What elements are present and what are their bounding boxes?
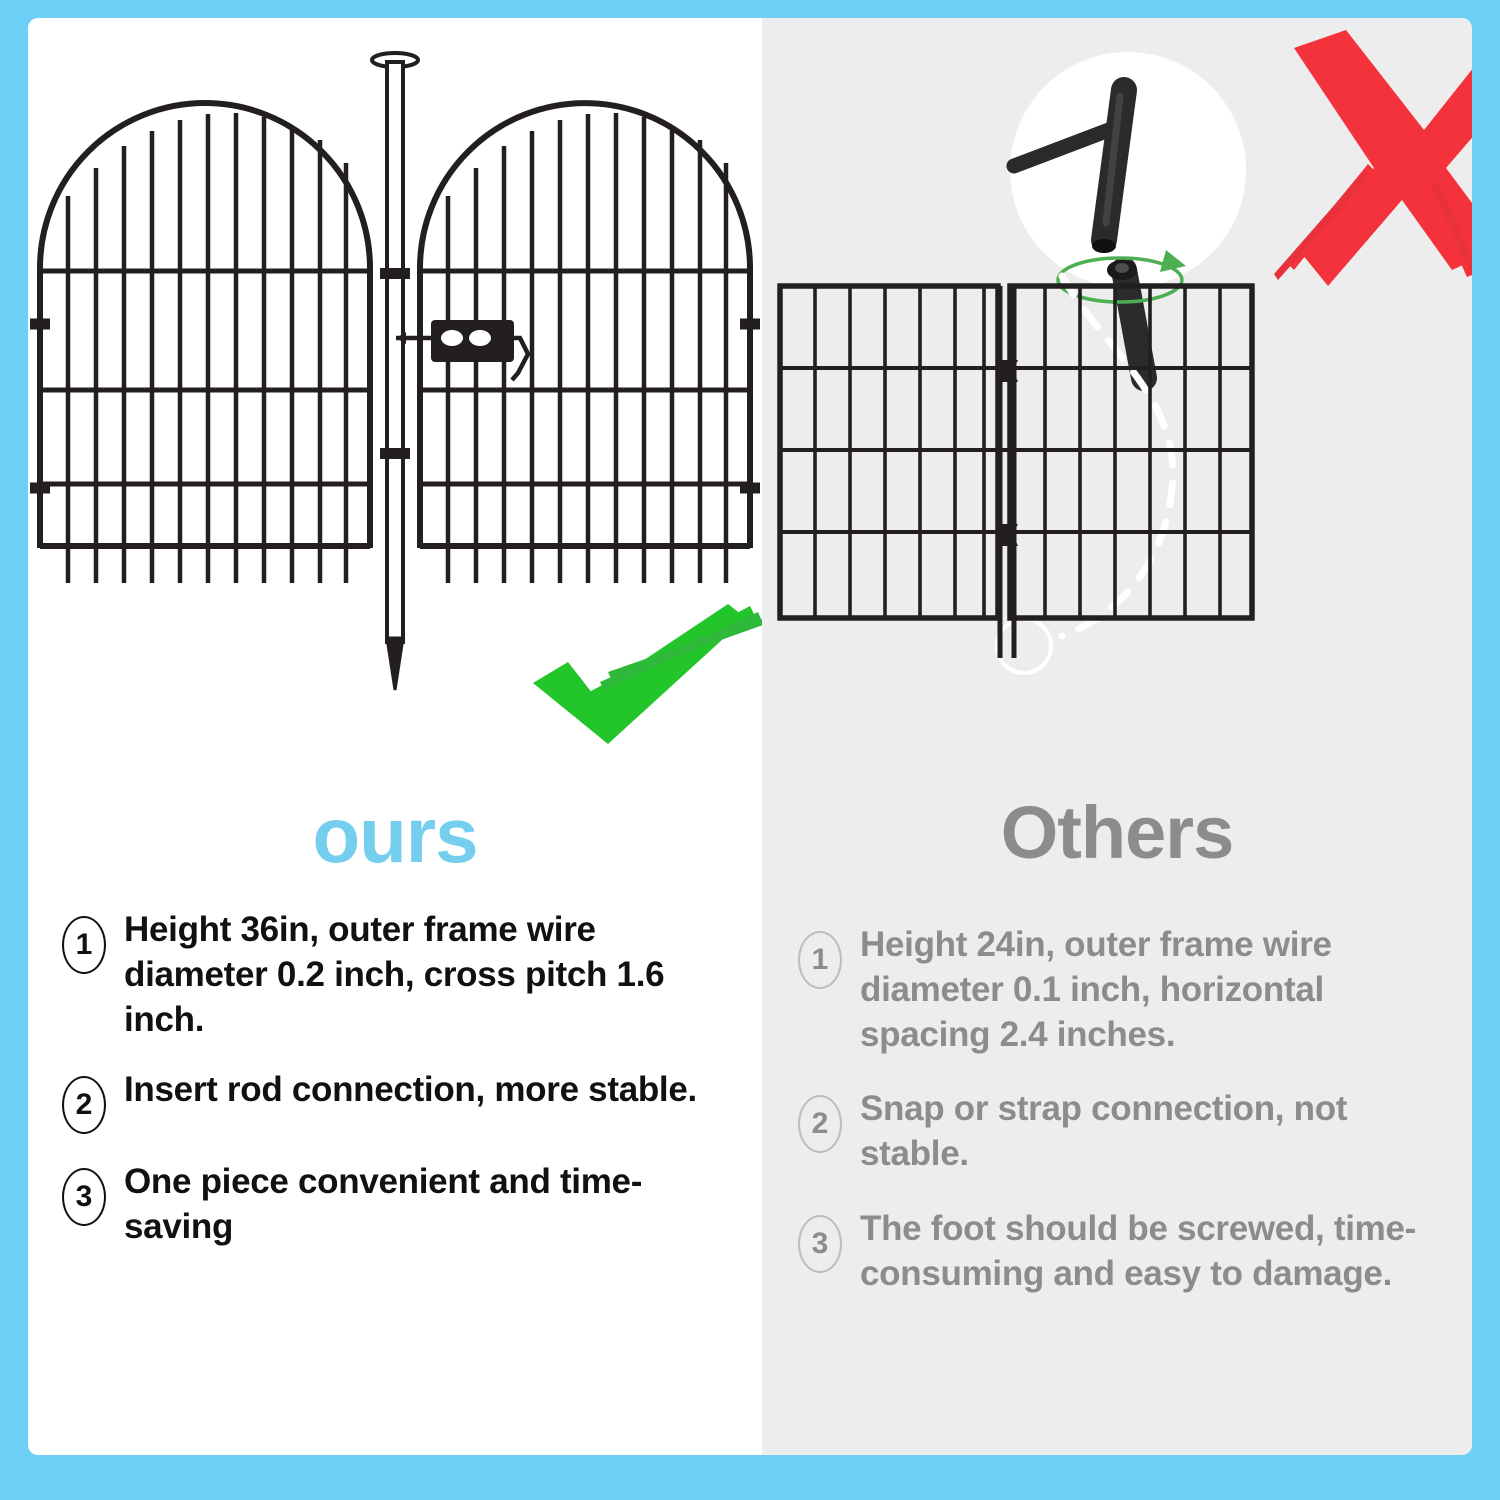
others-product-illustration bbox=[762, 18, 1472, 778]
list-item: 3 One piece convenient and time-saving bbox=[62, 1160, 732, 1250]
ours-panel: ours 1 Height 36in, outer frame wire dia… bbox=[28, 18, 762, 1455]
comparison-panels: ours 1 Height 36in, outer frame wire dia… bbox=[28, 18, 1472, 1455]
bullet-text: The foot should be screwed, time-consumi… bbox=[842, 1207, 1446, 1297]
bullet-text: Insert rod connection, more stable. bbox=[106, 1068, 732, 1113]
bullet-number-badge: 3 bbox=[798, 1215, 842, 1273]
arched-fence-svg bbox=[28, 18, 762, 778]
bullet-text: Height 36in, outer frame wire diameter 0… bbox=[106, 908, 732, 1042]
others-panel: Others 1 Height 24in, outer frame wire d… bbox=[762, 18, 1472, 1455]
ours-product-illustration bbox=[28, 18, 762, 778]
bullet-text: One piece convenient and time-saving bbox=[106, 1160, 732, 1250]
green-check-icon bbox=[533, 604, 762, 744]
ours-feature-list: 1 Height 36in, outer frame wire diameter… bbox=[28, 908, 762, 1276]
others-heading: Others bbox=[762, 796, 1472, 870]
list-item: 1 Height 36in, outer frame wire diameter… bbox=[62, 908, 732, 1042]
list-item: 2 Snap or strap connection, not stable. bbox=[798, 1087, 1446, 1177]
bullet-text: Height 24in, outer frame wire diameter 0… bbox=[842, 923, 1446, 1057]
bullet-number-badge: 2 bbox=[798, 1095, 842, 1153]
bullet-text: Snap or strap connection, not stable. bbox=[842, 1087, 1446, 1177]
buckle-connector bbox=[396, 320, 528, 380]
bullet-number-badge: 1 bbox=[798, 931, 842, 989]
others-feature-list: 1 Height 24in, outer frame wire diameter… bbox=[762, 923, 1472, 1327]
bullet-number-badge: 3 bbox=[62, 1168, 106, 1226]
bullet-number-badge: 2 bbox=[62, 1076, 106, 1134]
list-item: 1 Height 24in, outer frame wire diameter… bbox=[798, 923, 1446, 1057]
grid-fence-svg bbox=[762, 18, 1472, 778]
wire-grid bbox=[780, 286, 1252, 658]
list-item: 2 Insert rod connection, more stable. bbox=[62, 1068, 732, 1134]
infographic-frame: ours 1 Height 36in, outer frame wire dia… bbox=[0, 0, 1500, 1500]
red-cross-icon bbox=[1274, 30, 1472, 289]
callout-target-circle bbox=[997, 619, 1051, 673]
ours-heading: ours bbox=[28, 796, 762, 874]
insert-rod-stake bbox=[372, 53, 418, 690]
bullet-number-badge: 1 bbox=[62, 916, 106, 974]
list-item: 3 The foot should be screwed, time-consu… bbox=[798, 1207, 1446, 1297]
